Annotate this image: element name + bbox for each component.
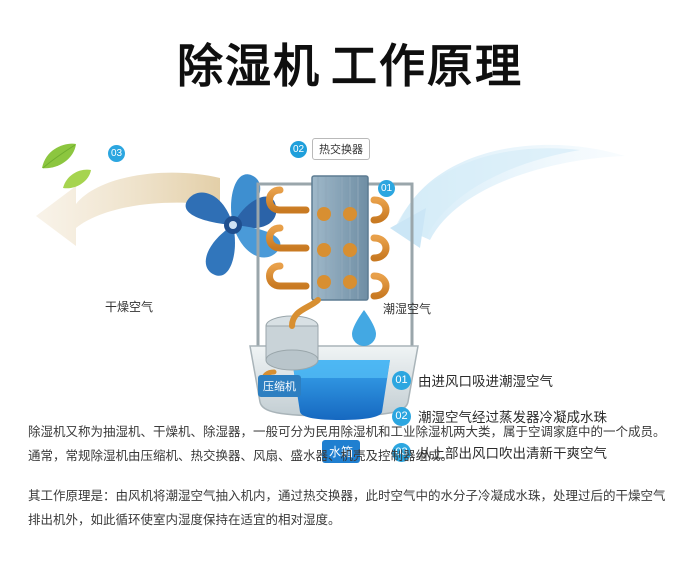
paragraph-1-line-2: 通常，常规除湿机由压缩机、热交换器、风扇、盛水器、机壳及控制器组成。 [28, 449, 453, 463]
dehumidifier-illustration: 03 干燥空气 [0, 120, 700, 400]
label-compressor: 压缩机 [258, 375, 301, 397]
marker-03: 03 [108, 145, 130, 162]
step-number: 01 [392, 371, 411, 390]
page-title-part2: 工作原理 [331, 40, 523, 92]
marker-02-heat-exchanger: 02 热交换器 [290, 138, 370, 160]
label-humid-air: 潮湿空气 [383, 300, 431, 317]
marker-01-number: 01 [378, 180, 395, 197]
marker-03-number: 03 [108, 145, 125, 162]
paragraph-2: 其工作原理是：由风机将潮湿空气抽入机内，通过热交换器，此时空气中的水分子冷凝成水… [28, 484, 676, 532]
paragraph-2-line-2: 排出机外，如此循环使室内湿度保持在适宜的相对湿度。 [28, 513, 341, 527]
page-title: 除湿机工作原理 [0, 30, 700, 96]
label-dry-air: 干燥空气 [105, 298, 153, 315]
paragraph-1: 除湿机又称为抽湿机、干燥机、除湿器，一般可分为民用除湿机和工业除湿机两大类，属于… [28, 420, 676, 468]
page-title-part1: 除湿机 [177, 40, 321, 92]
poster-canvas: 除湿机工作原理 [0, 0, 700, 566]
leaf-icon [62, 168, 92, 192]
marker-01: 01 [378, 180, 400, 197]
marker-02-number: 02 [290, 141, 307, 158]
label-heat-exchanger: 热交换器 [312, 138, 370, 160]
paragraph-1-line-1: 除湿机又称为抽湿机、干燥机、除湿器，一般可分为民用除湿机和工业除湿机两大类，属于… [28, 425, 666, 439]
step-item: 01 由进风口吸进潮湿空气 [392, 370, 692, 390]
paragraph-2-line-1: 其工作原理是：由风机将潮湿空气抽入机内，通过热交换器，此时空气中的水分子冷凝成水… [28, 489, 666, 503]
step-text: 由进风口吸进潮湿空气 [418, 370, 553, 390]
description-block: 除湿机又称为抽湿机、干燥机、除湿器，一般可分为民用除湿机和工业除湿机两大类，属于… [28, 420, 676, 532]
